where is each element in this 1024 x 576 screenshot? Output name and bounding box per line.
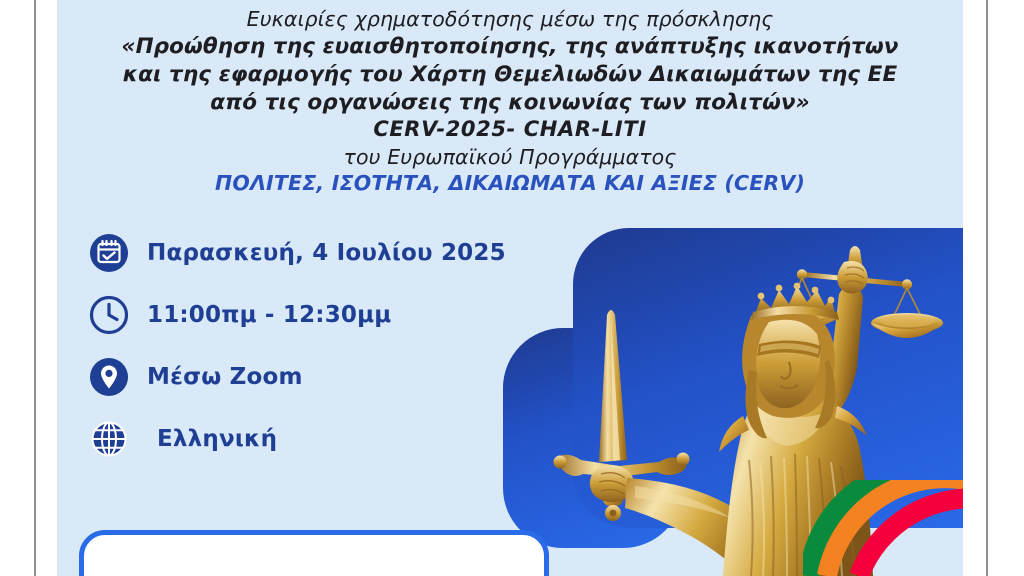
event-detail-location: Μέσω Zoom [87, 346, 507, 408]
event-language-label: Ελληνική [157, 426, 277, 452]
programme-prefix: του Ευρωπαϊκού Προγράμματος [57, 144, 963, 171]
poster-headline: Ευκαιρίες χρηματοδότησης μέσω της πρόσκλ… [57, 6, 963, 197]
event-details-list: Παρασκευή, 4 Ιουλίου 2025 11:00πμ - 12:3… [87, 222, 507, 470]
lady-justice-statue [503, 210, 963, 576]
event-detail-date: Παρασκευή, 4 Ιουλίου 2025 [87, 222, 507, 284]
headline-line-1: Ευκαιρίες χρηματοδότησης μέσω της πρόσκλ… [57, 6, 963, 33]
event-detail-language: Ελληνική [87, 408, 507, 470]
headline-line-4: από τις οργανώσεις της κοινωνίας των πολ… [57, 89, 963, 117]
location-pin-icon [87, 355, 131, 399]
globe-icon [87, 417, 131, 461]
event-location-label: Μέσω Zoom [147, 364, 303, 390]
headline-line-3: και της εφαρμογής του Χάρτη Θεμελιωδών Δ… [57, 61, 963, 89]
calendar-check-icon [87, 231, 131, 275]
event-detail-time: 11:00πμ - 12:30μμ [87, 284, 507, 346]
statue-head [742, 283, 839, 439]
viewer-right-rule [986, 0, 988, 576]
headline-line-2: «Προώθηση της ευαισθητοποίησης, της ανάπ… [57, 33, 963, 61]
statue-body [719, 391, 873, 576]
programme-name: ΠΟΛΙΤΕΣ, ΙΣΟΤΗΤΑ, ΔΙΚΑΙΩΜΑΤΑ ΚΑΙ ΑΞΙΕΣ (… [57, 170, 963, 197]
event-time-label: 11:00πμ - 12:30μμ [147, 302, 391, 328]
screenshot-viewer: Ευκαιρίες χρηματοδότησης μέσω της πρόσκλ… [0, 0, 1024, 576]
bottom-info-card [79, 530, 549, 576]
clock-icon [87, 293, 131, 337]
event-poster: Ευκαιρίες χρηματοδότησης μέσω της πρόσκλ… [57, 0, 963, 576]
event-date-label: Παρασκευή, 4 Ιουλίου 2025 [147, 240, 506, 266]
call-code: CERV-2025- CHAR-LITI [57, 116, 963, 143]
viewer-left-rule [34, 0, 36, 576]
